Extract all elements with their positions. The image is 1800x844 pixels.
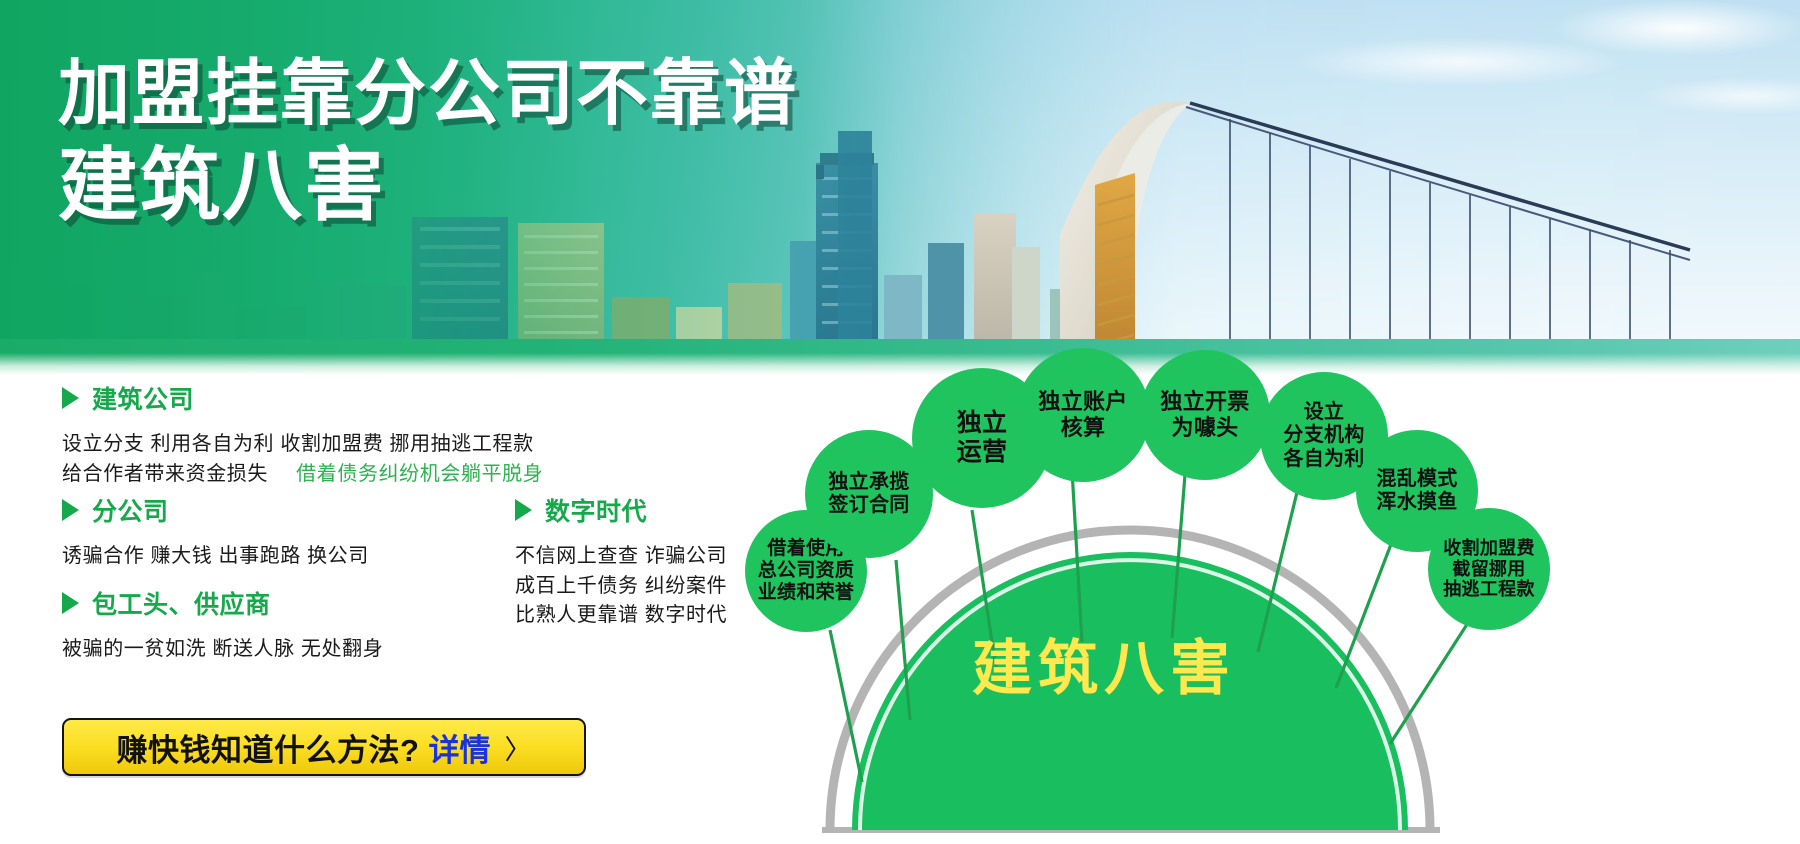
section-branch-company: 分公司 诱骗合作 赚大钱 出事跑路 换公司 — [62, 492, 492, 572]
section-body: 设立分支 利用各自为利 收割加盟费 挪用抽逃工程款 给合作者带来资金损失 借着债… — [62, 430, 782, 489]
section-body: 被骗的一贫如洗 断送人脉 无处翻身 — [62, 635, 542, 665]
bubble-text: 独立账户 核算 — [1038, 389, 1127, 440]
dome-center-label: 建筑八害 — [972, 620, 1236, 707]
section-body-line-2: 给合作者带来资金损失 借着债务纠纷机会躺平脱身 — [62, 460, 782, 490]
section-header: 建筑公司 — [62, 380, 782, 416]
bubble-4[interactable]: 独立开票 为噱头 — [1140, 350, 1270, 480]
section-title: 包工头、供应商 — [92, 585, 271, 621]
poster-root: 加盟挂靠分公司不靠谱 建筑八害 建筑公司 设立分支 利用各自为利 收割加盟费 挪… — [0, 0, 1800, 844]
section-header: 包工头、供应商 — [62, 585, 542, 621]
bubble-text: 混乱模式 浑水摸鱼 — [1376, 468, 1457, 514]
section-contractor-supplier: 包工头、供应商 被骗的一贫如洗 断送人脉 无处翻身 — [62, 585, 542, 665]
chevron-right-icon: 〉 — [504, 728, 531, 767]
section-body-line-1: 诱骗合作 赚大钱 出事跑路 换公司 — [62, 542, 492, 572]
triangle-bullet-icon — [62, 499, 79, 521]
section-body-line-2-green: 借着债务纠纷机会躺平脱身 — [296, 463, 543, 485]
eight-harms-diagram: 借着使用 总公司资质 业绩和荣誉 独立承揽 签订合同 独立 运营 独立账户 核算 — [800, 330, 1800, 844]
bubble-7[interactable]: 收割加盟费 截留挪用 抽逃工程款 — [1428, 508, 1550, 630]
cta-button[interactable]: 赚快钱知道什么方法? 详情 〉 — [62, 718, 586, 776]
triangle-bullet-icon — [515, 499, 532, 521]
section-body-line-1: 设立分支 利用各自为利 收割加盟费 挪用抽逃工程款 — [62, 430, 782, 460]
bubble-text: 独立开票 为噱头 — [1160, 389, 1249, 440]
hero-title-line2: 建筑八害 — [58, 143, 798, 229]
bubble-text: 独立 运营 — [957, 409, 1008, 467]
hero-title: 加盟挂靠分公司不靠谱 建筑八害 — [58, 56, 798, 229]
section-body: 诱骗合作 赚大钱 出事跑路 换公司 — [62, 542, 492, 572]
bubble-text: 收割加盟费 截留挪用 抽逃工程款 — [1443, 538, 1535, 601]
hero-title-line1: 加盟挂靠分公司不靠谱 — [58, 56, 798, 133]
section-body-line-1: 被骗的一贫如洗 断送人脉 无处翻身 — [62, 635, 542, 665]
triangle-bullet-icon — [62, 592, 79, 614]
hero-banner: 加盟挂靠分公司不靠谱 建筑八害 — [0, 0, 1800, 375]
section-title: 分公司 — [92, 492, 169, 528]
section-header: 分公司 — [62, 492, 492, 528]
section-title: 数字时代 — [545, 492, 647, 528]
section-construction-company: 建筑公司 设立分支 利用各自为利 收割加盟费 挪用抽逃工程款 给合作者带来资金损… — [62, 380, 782, 489]
bubble-text: 独立承揽 签订合同 — [828, 471, 909, 517]
triangle-bullet-icon — [62, 387, 79, 409]
left-content-column: 建筑公司 设立分支 利用各自为利 收割加盟费 挪用抽逃工程款 给合作者带来资金损… — [0, 380, 830, 844]
cta-details-link[interactable]: 详情 — [428, 725, 490, 770]
cta-label: 赚快钱知道什么方法? — [117, 725, 420, 770]
section-title: 建筑公司 — [92, 380, 194, 416]
bubble-3[interactable]: 独立账户 核算 — [1016, 348, 1150, 482]
bubble-text: 设立 分支机构 各自为利 — [1283, 401, 1364, 471]
section-body-line-2-black: 给合作者带来资金损失 — [62, 463, 268, 485]
